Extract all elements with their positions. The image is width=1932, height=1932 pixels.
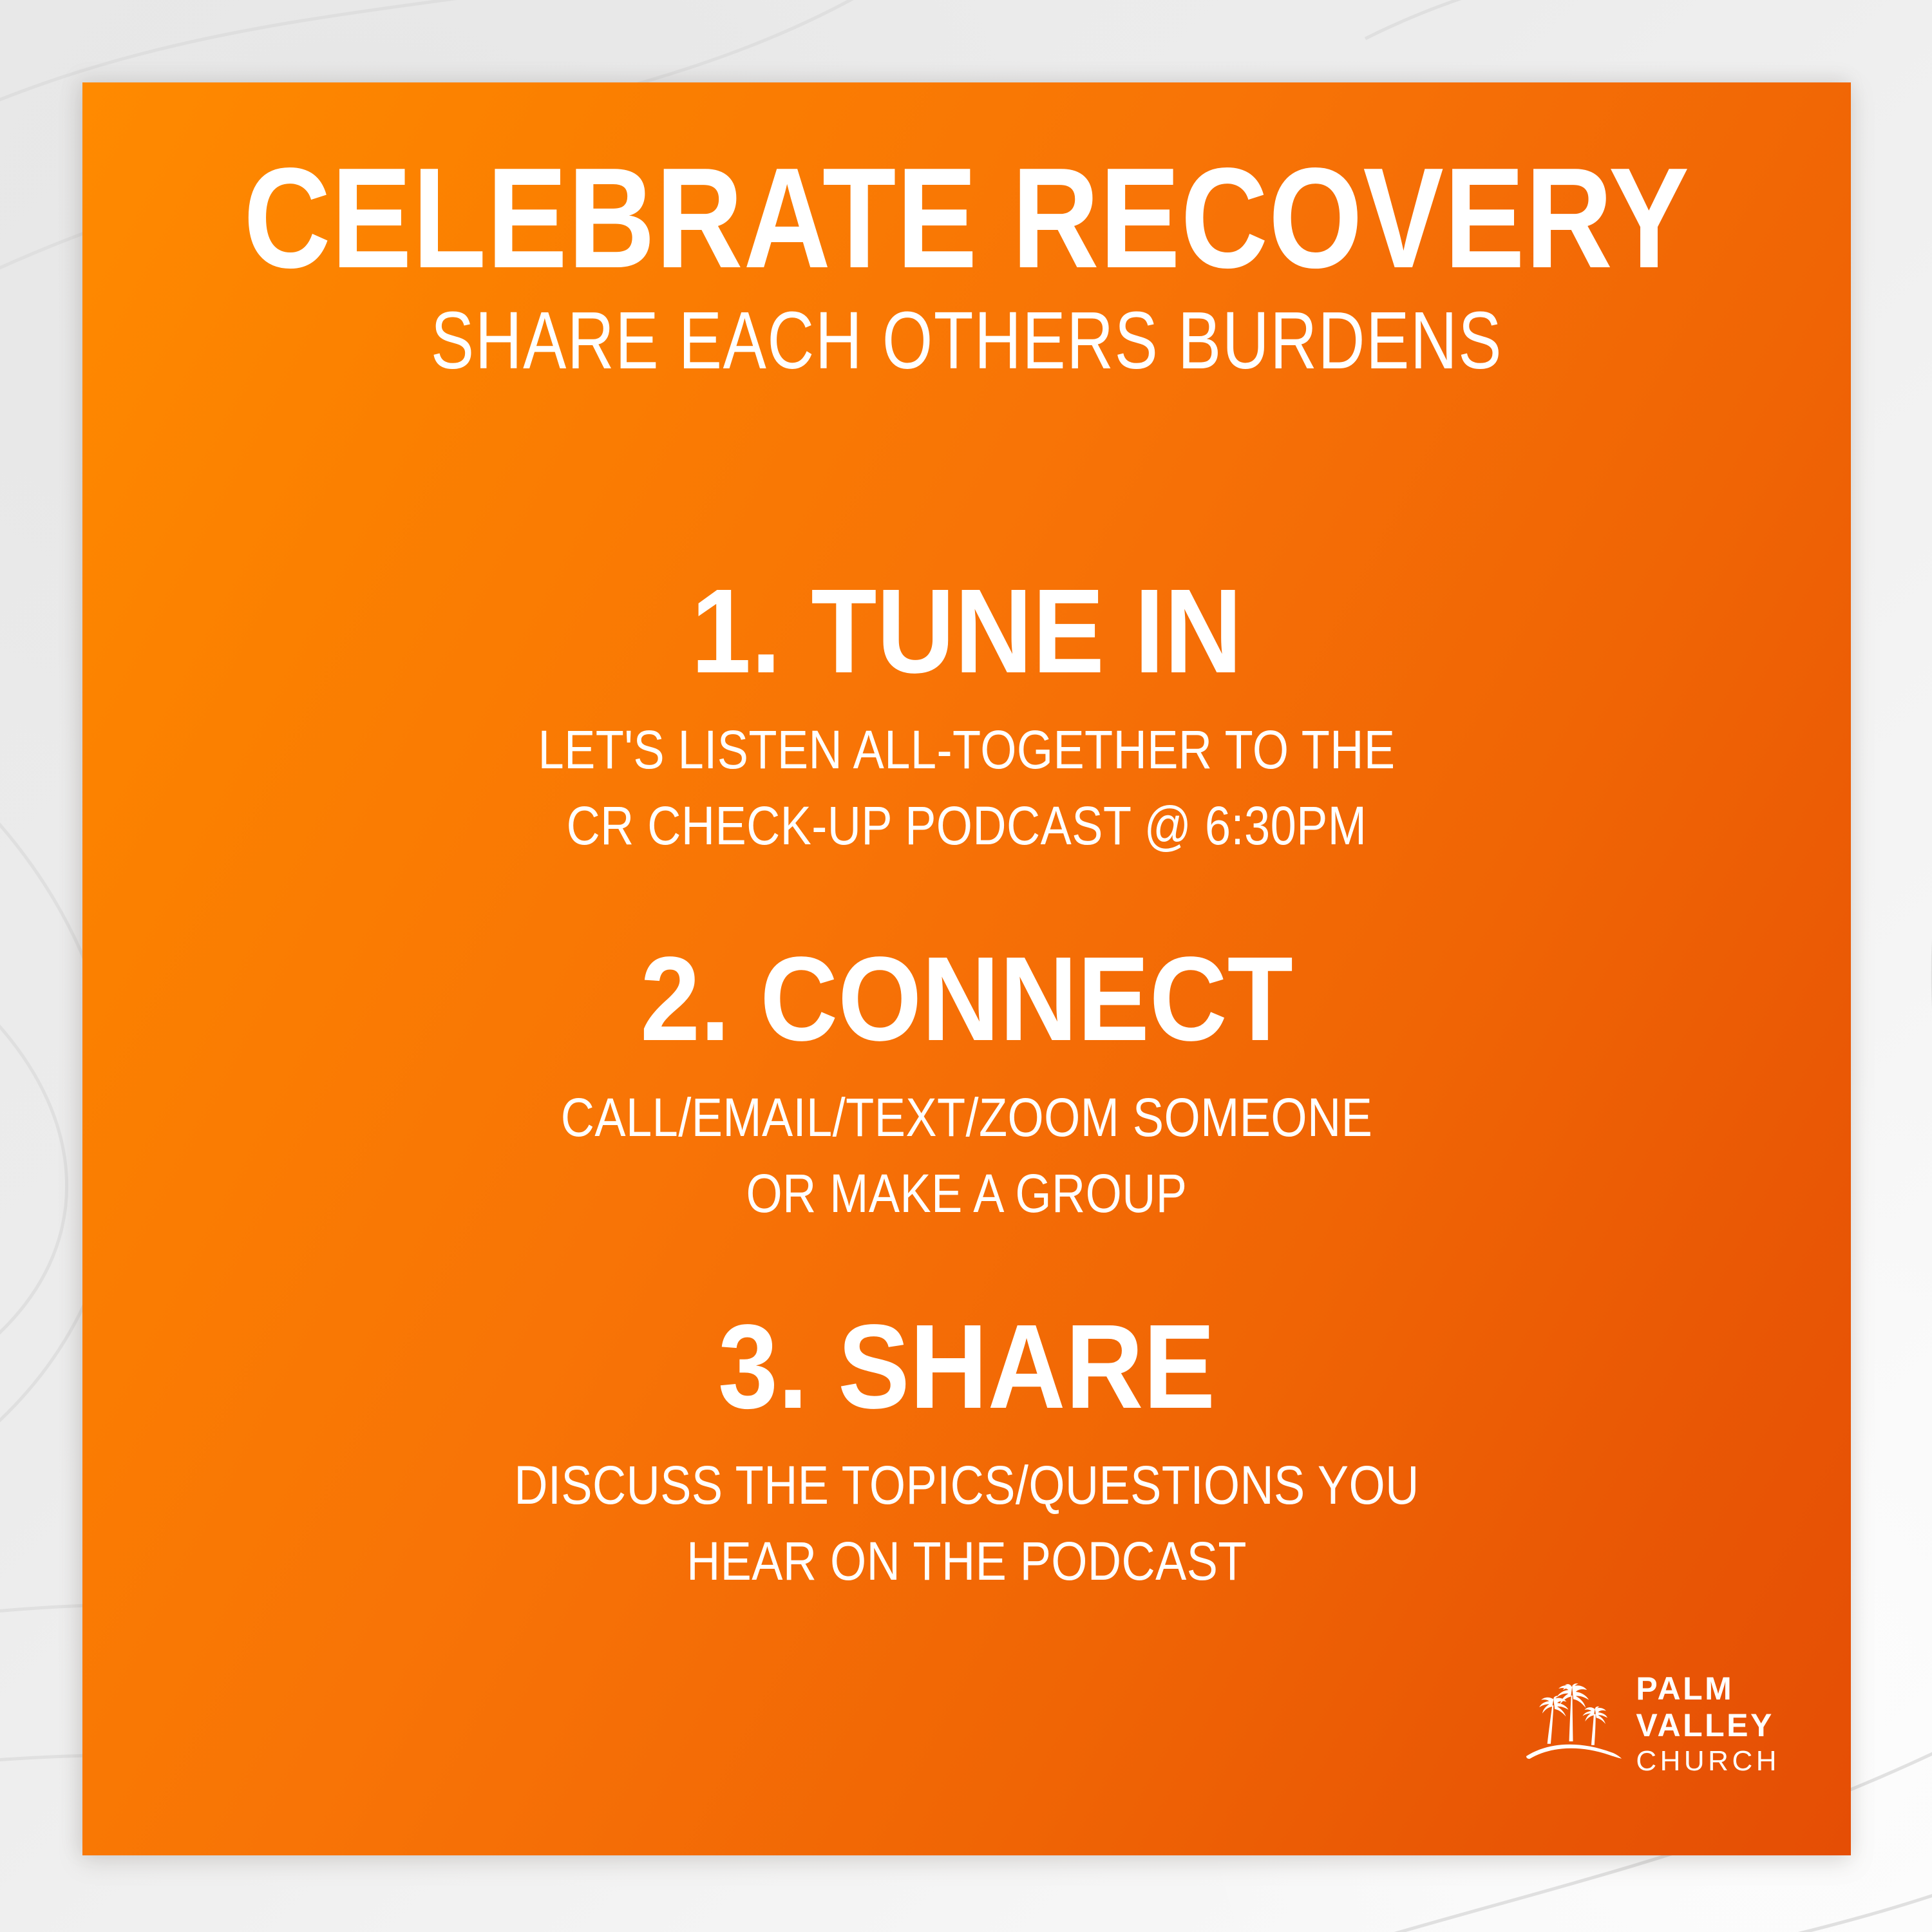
poster-canvas: CELEBRATE RECOVERY SHARE EACH OTHERS BUR… (0, 0, 1932, 1932)
logo-line-valley: VALLEY (1636, 1709, 1780, 1741)
steps-list: 1. TUNE IN LET'S LISTEN ALL-TOGETHER TO … (82, 572, 1851, 1600)
step-description: LET'S LISTEN ALL-TOGETHER TO THE CR CHEC… (82, 712, 1851, 864)
logo-wordmark: PALM VALLEY CHURCH (1636, 1672, 1780, 1776)
step-description-line: CR CHECK-UP PODCAST @ 6:30PM (206, 788, 1727, 864)
step-item: 3. SHARE DISCUSS THE TOPICS/QUESTIONS YO… (82, 1307, 1851, 1599)
step-description-line: OR MAKE A GROUP (206, 1156, 1727, 1232)
palm-valley-church-logo: PALM VALLEY CHURCH (1525, 1672, 1780, 1776)
logo-line-palm: PALM (1636, 1672, 1780, 1705)
step-item: 2. CONNECT CALL/EMAIL/TEXT/ZOOM SOMEONE … (82, 940, 1851, 1231)
logo-line-church: CHURCH (1636, 1747, 1780, 1776)
step-description-line: DISCUSS THE TOPICS/QUESTIONS YOU (206, 1448, 1727, 1524)
palm-trees-icon (1525, 1683, 1624, 1765)
step-description: CALL/EMAIL/TEXT/ZOOM SOMEONE OR MAKE A G… (82, 1080, 1851, 1231)
step-description-line: HEAR ON THE PODCAST (206, 1524, 1727, 1600)
step-heading: 2. CONNECT (171, 940, 1762, 1059)
step-description-line: LET'S LISTEN ALL-TOGETHER TO THE (206, 712, 1727, 788)
poster-header: CELEBRATE RECOVERY SHARE EACH OTHERS BUR… (82, 155, 1851, 381)
step-heading: 1. TUNE IN (171, 572, 1762, 692)
page-title: CELEBRATE RECOVERY (220, 155, 1714, 283)
step-description-line: CALL/EMAIL/TEXT/ZOOM SOMEONE (206, 1080, 1727, 1156)
step-item: 1. TUNE IN LET'S LISTEN ALL-TOGETHER TO … (82, 572, 1851, 864)
orange-poster-panel: CELEBRATE RECOVERY SHARE EACH OTHERS BUR… (82, 82, 1851, 1855)
step-description: DISCUSS THE TOPICS/QUESTIONS YOU HEAR ON… (82, 1448, 1851, 1599)
page-subtitle: SHARE EACH OTHERS BURDENS (260, 300, 1674, 381)
step-heading: 3. SHARE (171, 1307, 1762, 1427)
